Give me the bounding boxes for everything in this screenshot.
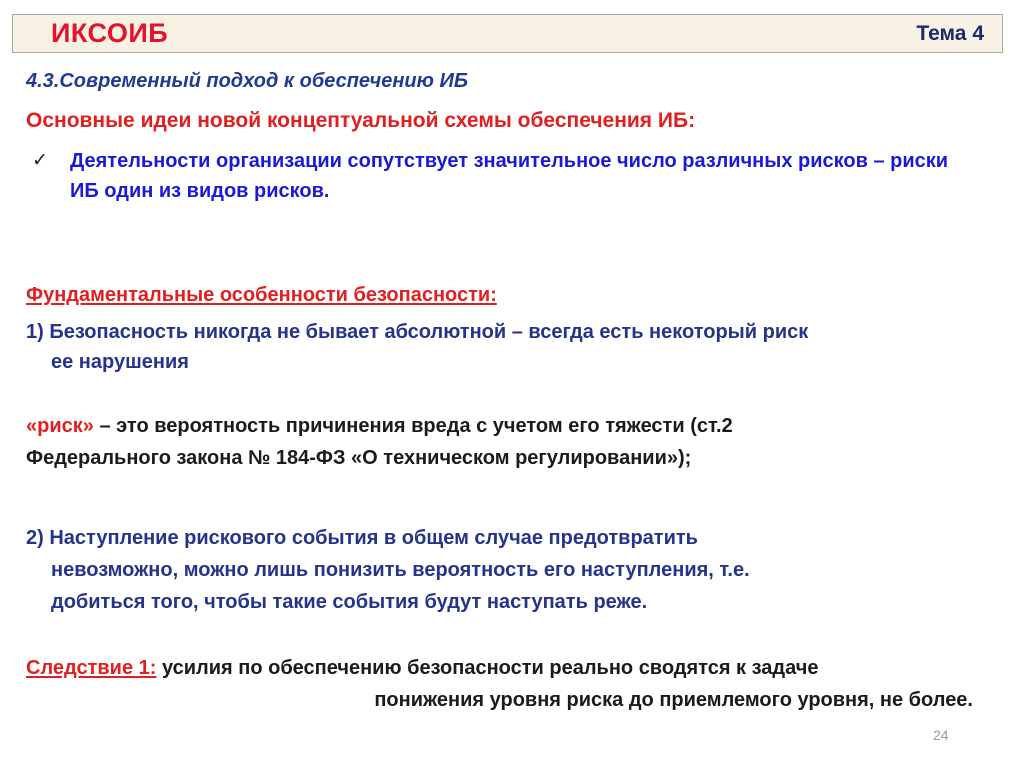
risk-definition-paragraph: «риск» – это вероятность причинения вред… [26,410,926,474]
numbered-item-1-line2: ее нарушения [26,348,991,378]
risk-definition-line2: Федерального закона № 184-ФЗ «О техничес… [26,442,926,474]
numbered-item-2-line3: добиться того, чтобы такие события будут… [26,586,991,618]
main-ideas-heading: Основные идеи новой концептуальной схемы… [26,109,695,133]
checkmark-icon: ✓ [28,147,70,175]
consequence-line1: усилия по обеспечению безопасности реаль… [156,657,818,679]
check-bullet-item: ✓ Деятельности организации сопутствует з… [28,147,973,206]
risk-definition-line1: – это вероятность причинения вреда с уче… [94,415,733,437]
check-bullet-text: Деятельности организации сопутствует зна… [70,147,973,206]
consequence-label: Следствие 1: [26,657,156,679]
numbered-item-2-line1: 2) Наступление рискового события в общем… [26,527,698,549]
slide-content: 4.3.Современный подход к обеспечению ИБ … [0,62,1024,762]
risk-term: «риск» [26,415,94,437]
fundamental-features-heading: Фундаментальные особенности безопасности… [26,284,497,307]
page-number: 24 [933,727,949,743]
consequence-line2: понижения уровня риска до приемлемого ур… [26,684,991,716]
numbered-item-1-line1: 1) Безопасность никогда не бывает абсолю… [26,321,808,343]
numbered-item-2-line2: невозможно, можно лишь понизить вероятно… [26,554,991,586]
slide-header-bar: ИКСОИБ Тема 4 [12,14,1003,53]
numbered-item-2: 2) Наступление рискового события в общем… [26,522,991,618]
consequence-paragraph: Следствие 1: усилия по обеспечению безоп… [26,652,991,716]
theme-label: Тема 4 [916,23,984,44]
section-title: 4.3.Современный подход к обеспечению ИБ [26,70,468,93]
brand-title: ИКСОИБ [51,20,168,47]
numbered-item-1: 1) Безопасность никогда не бывает абсолю… [26,318,991,377]
